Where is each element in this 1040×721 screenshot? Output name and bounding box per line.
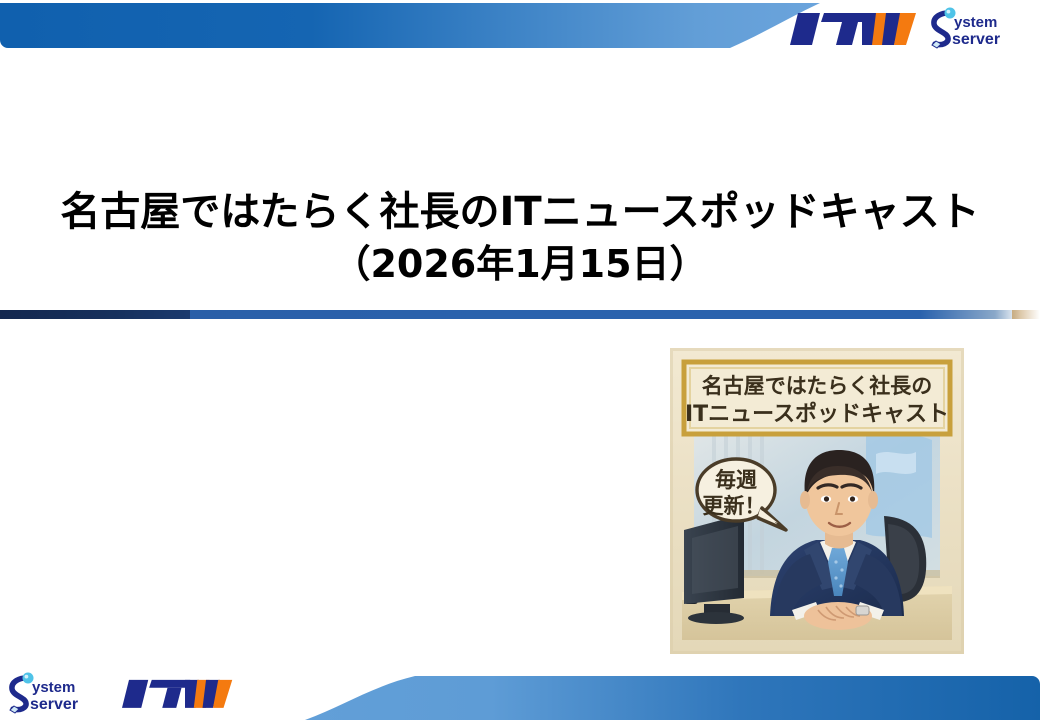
system-server-logo-header: ystem server xyxy=(928,6,1032,55)
title-line-2: （2026年1月15日） xyxy=(0,239,1040,289)
page-title: 名古屋ではたらく社長のITニュースポッドキャスト （2026年1月15日） xyxy=(0,185,1040,289)
itw-logo-footer xyxy=(122,672,234,719)
divider-light-segment xyxy=(190,310,1020,319)
header-band xyxy=(0,3,860,48)
podcast-cover-art[interactable]: 名古屋ではたらく社長の ITニュースポッドキャスト 毎週 更新！ xyxy=(670,348,964,654)
divider-tail-segment xyxy=(1012,310,1040,319)
divider-dark-segment xyxy=(0,310,190,319)
system-server-word-top: ystem xyxy=(954,14,997,31)
system-server-word-top-footer: ystem xyxy=(32,679,75,696)
cover-title-line-2: ITニュースポッドキャスト xyxy=(685,401,949,427)
itw-logo-header xyxy=(790,8,918,53)
divider-rule xyxy=(0,310,1040,319)
system-server-word-bottom: server xyxy=(952,31,1000,48)
cover-title-line-1: 名古屋ではたらく社長の xyxy=(702,374,933,398)
system-server-logo-footer: ystem server xyxy=(6,670,108,721)
title-line-1: 名古屋ではたらく社長のITニュースポッドキャスト xyxy=(0,185,1040,239)
system-server-word-bottom-footer: server xyxy=(30,696,78,713)
cover-bubble-line-2: 更新！ xyxy=(703,494,766,518)
header-logos: ystem server xyxy=(790,6,1032,55)
footer-logos: ystem server xyxy=(6,670,234,721)
footer-band xyxy=(255,672,1040,720)
cover-bubble-line-1: 毎週 xyxy=(715,468,757,492)
